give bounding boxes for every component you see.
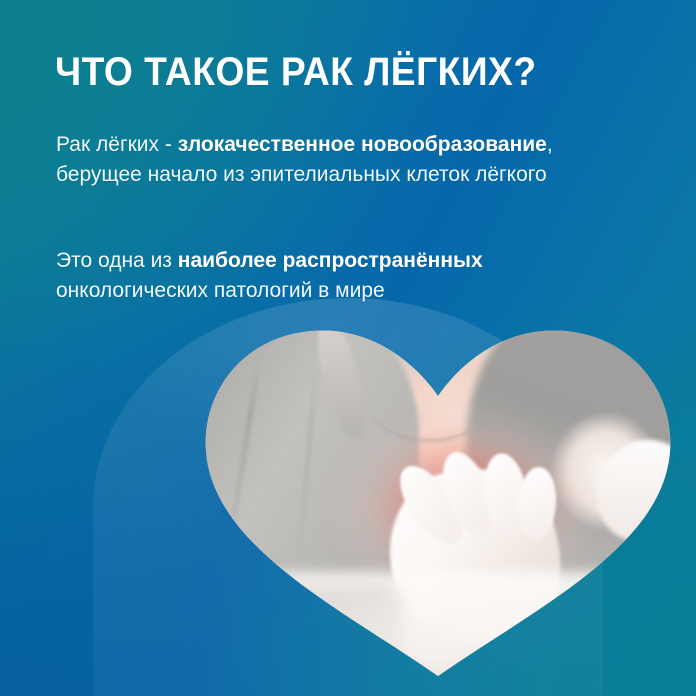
body-text: Рак лёгких - bbox=[56, 133, 178, 156]
body-text: Это одна из bbox=[56, 249, 178, 272]
emphasis-text: злокачественное новообразование bbox=[178, 133, 547, 156]
paragraph-definition: Рак лёгких - злокачественное новообразов… bbox=[56, 130, 612, 190]
poster-canvas: ЧТО ТАКОЕ РАК ЛЁГКИХ? Рак лёгких - злока… bbox=[0, 0, 696, 696]
illustration-wrapper bbox=[203, 328, 673, 676]
photo-vignette bbox=[203, 328, 673, 676]
heart-shaped-photo bbox=[203, 328, 673, 676]
emphasis-text: наиболее распространённых bbox=[178, 249, 483, 272]
paragraph-prevalence: Это одна из наиболее распространённых он… bbox=[56, 246, 612, 306]
body-text: онкологических патологий в мире bbox=[56, 279, 385, 302]
page-title: ЧТО ТАКОЕ РАК ЛЁГКИХ? bbox=[55, 50, 537, 94]
